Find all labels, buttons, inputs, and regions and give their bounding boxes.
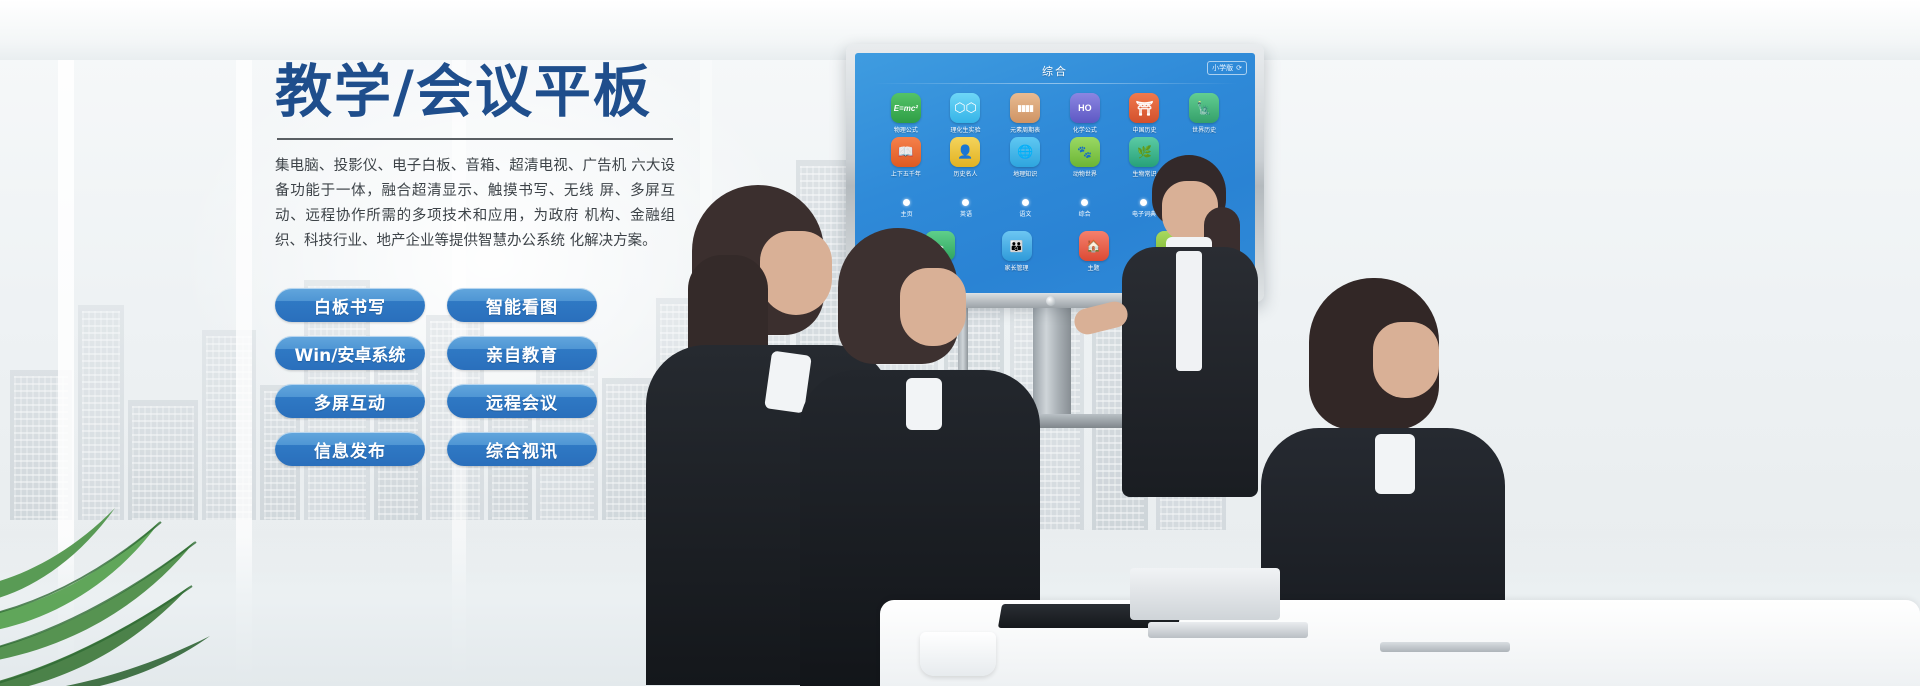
feature-button-remote-meeting[interactable]: 远程会议 (447, 384, 597, 418)
feature-button-smart-image[interactable]: 智能看图 (447, 288, 597, 322)
nav-dot-icon (962, 199, 969, 206)
app-tile-physics[interactable]: E=mc² 物理公式 (879, 93, 933, 134)
app-tile-periodic-table[interactable]: ▮▮▮▮ 元素周期表 (998, 93, 1052, 134)
app-label: 元素周期表 (1010, 125, 1040, 134)
app-tile-chinese-history[interactable]: ⛩ 中国历史 (1118, 93, 1172, 134)
chemistry-icon: HO (1070, 93, 1100, 123)
app-tile-world-history[interactable]: 🗽 世界历史 (1177, 93, 1231, 134)
feature-button-whiteboard[interactable]: 白板书写 (275, 288, 425, 322)
coffee-cup (920, 632, 996, 676)
app-label: 上下五千年 (891, 169, 921, 178)
paw-icon: 🐾 (1070, 137, 1100, 167)
badge-label: 小学版 (1212, 63, 1233, 73)
nav-label: 语文 (1019, 209, 1031, 218)
nav-dot-icon (1022, 199, 1029, 206)
nav-item-english[interactable]: 英语 (938, 199, 993, 218)
globe-icon: 🌐 (1010, 137, 1040, 167)
nav-label: 英语 (960, 209, 972, 218)
feature-button-win-android[interactable]: Win/安卓系统 (275, 336, 425, 370)
pagoda-icon: ⛩ (1129, 93, 1159, 123)
app-label: 理化生实验 (950, 125, 980, 134)
app-tile-five-thousand-years[interactable]: 📖 上下五千年 (879, 137, 933, 178)
app-label: 主题 (1087, 263, 1099, 272)
app-label: 物理公式 (894, 125, 918, 134)
feature-button-grid: 白板书写 智能看图 Win/安卓系统 亲自教育 多屏互动 远程会议 信息发布 综… (275, 288, 605, 466)
feature-button-multiscreen[interactable]: 多屏互动 (275, 384, 425, 418)
app-label: 动物世界 (1073, 169, 1097, 178)
laptop-2-base (1148, 622, 1308, 638)
app-label: 中国历史 (1132, 125, 1156, 134)
hero-text-block: 教学/会议平板 集电脑、投影仪、电子白板、音箱、超清电视、广告机 六大设备功能于… (275, 62, 695, 254)
hero-description: 集电脑、投影仪、电子白板、音箱、超清电视、广告机 六大设备功能于一体，融合超清显… (275, 154, 675, 254)
desk-document (1380, 642, 1510, 652)
app-tile-historic-figures[interactable]: 👤 历史名人 (939, 137, 993, 178)
app-label: 化学公式 (1073, 125, 1097, 134)
presenter-person (1100, 155, 1280, 535)
power-indicator-icon (1046, 296, 1056, 306)
physics-icon: E=mc² (891, 93, 921, 123)
feature-button-video-conference[interactable]: 综合视讯 (447, 432, 597, 466)
app-label: 地理知识 (1013, 169, 1037, 178)
laptop-2-screen (1130, 568, 1280, 620)
nav-dot-icon (1081, 199, 1088, 206)
nav-dot-icon (903, 199, 910, 206)
app-label: 世界历史 (1192, 125, 1216, 134)
app-tile-chemistry-formula[interactable]: HO 化学公式 (1058, 93, 1112, 134)
screen-version-badge[interactable]: 小学版 ⟳ (1207, 61, 1247, 75)
molecule-icon: ⬡⬡ (950, 93, 980, 123)
feature-button-info-publish[interactable]: 信息发布 (275, 432, 425, 466)
screen-divider (873, 83, 1237, 84)
app-tile-geography[interactable]: 🌐 地理知识 (998, 137, 1052, 178)
app-tile-chem-bio-lab[interactable]: ⬡⬡ 理化生实验 (939, 93, 993, 134)
title-divider (277, 138, 673, 140)
refresh-icon: ⟳ (1236, 64, 1242, 72)
periodic-table-icon: ▮▮▮▮ (1010, 93, 1040, 123)
nav-label: 综合 (1079, 209, 1091, 218)
app-grid-row-1: E=mc² 物理公式 ⬡⬡ 理化生实验 ▮▮▮▮ 元素周期表 HO 化学公式 (879, 93, 1231, 134)
person-icon: 👤 (950, 137, 980, 167)
nav-label: 主页 (901, 209, 913, 218)
page-title: 教学/会议平板 (275, 62, 695, 124)
palm-plant-icon (0, 436, 300, 686)
statue-icon: 🗽 (1189, 93, 1219, 123)
app-label: 历史名人 (953, 169, 977, 178)
hero-banner: 教学/会议平板 集电脑、投影仪、电子白板、音箱、超清电视、广告机 六大设备功能于… (0, 0, 1920, 686)
book-icon: 📖 (891, 137, 921, 167)
screen-title: 综合 (855, 63, 1255, 79)
nav-item-chinese[interactable]: 语文 (998, 199, 1053, 218)
feature-button-education[interactable]: 亲自教育 (447, 336, 597, 370)
